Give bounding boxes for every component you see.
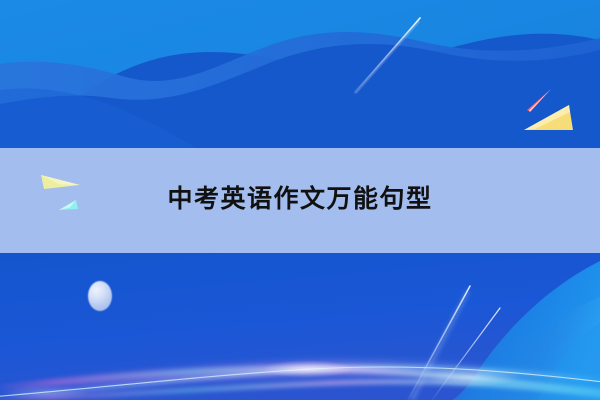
banner-bottom-section bbox=[0, 253, 600, 400]
glow-spot-center bbox=[262, 360, 354, 378]
banner-image: 中考英语作文万能句型 bbox=[0, 0, 600, 400]
top-wave-graphic bbox=[0, 0, 600, 148]
page-title: 中考英语作文万能句型 bbox=[167, 187, 432, 214]
banner-top-section bbox=[0, 0, 600, 148]
bottom-gradient-graphic bbox=[0, 253, 600, 400]
moon-sphere-icon bbox=[88, 281, 112, 311]
glow-spot-right bbox=[418, 367, 522, 387]
title-band: 中考英语作文万能句型 bbox=[0, 148, 600, 253]
